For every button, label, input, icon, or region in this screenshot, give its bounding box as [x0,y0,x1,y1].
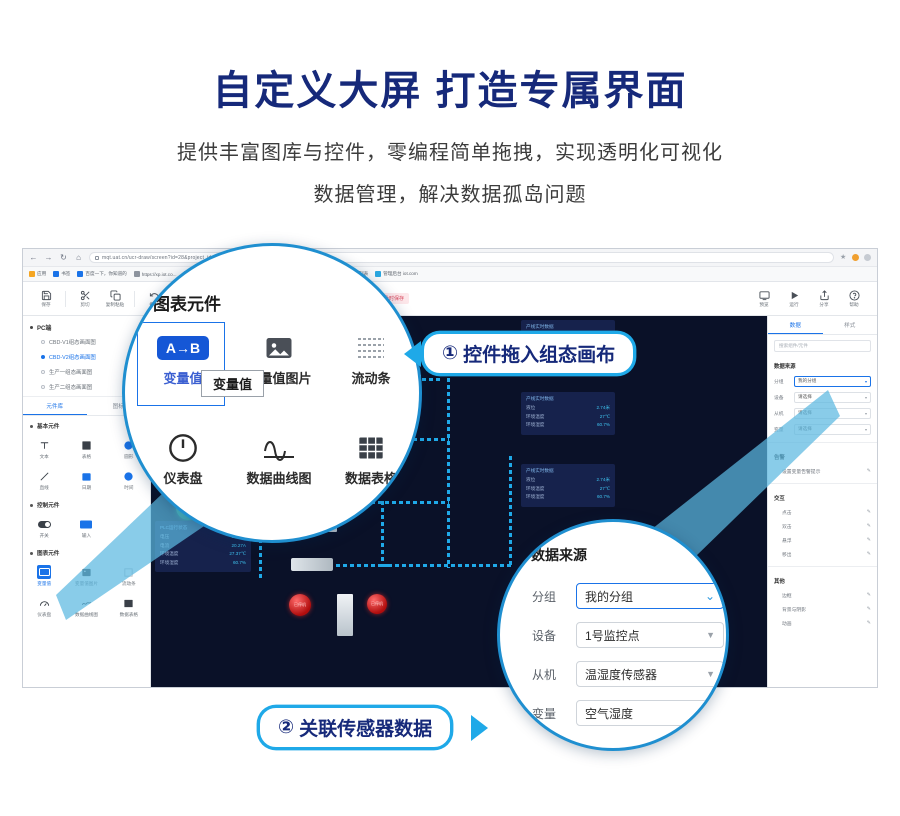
pipe-segment [381,564,511,567]
chevron-down-icon: ▾ [865,379,867,384]
panel-row: 环境温度27.37℃ [160,551,246,557]
tab-style[interactable]: 样式 [823,316,878,334]
radio-icon [41,370,45,374]
right-sidebar: 数据 样式 搜索组件/元件 数据来源 分组 我的分组▾ 设备 请选择▾ 从机 请… [767,316,877,688]
section-control-title: 控制元件 [23,495,150,512]
browser-actions: ★ [840,254,871,261]
tree-group-pc[interactable]: PC端 [23,320,150,335]
share-icon [818,289,830,301]
bullet-icon [30,552,33,555]
magnifier-right-title: 数据来源 [531,545,587,565]
field-label: 设备 [532,627,562,644]
mag-component-datatable[interactable]: 数据表格 [325,428,417,487]
mag-field-device: 设备 1号监控点▼ [532,622,724,648]
chevron-down-icon: ⌄ [705,589,715,603]
bookmark-item[interactable]: 百度一下，你知道的 [77,271,126,277]
radio-icon [41,340,45,344]
interaction-row[interactable]: 点击✎ [768,505,877,519]
magnifier-left-title: 图表元件 [153,290,221,315]
magnifier-left: 图表元件 A→B 变量值 变量值图片 流动条 仪表盘 [122,243,422,543]
chevron-down-icon: ▼ [706,669,715,679]
edit-pencil-icon: ✎ [867,468,871,474]
chevron-down-icon: ▾ [865,411,867,416]
callout-2-number: ② [278,716,294,739]
toolbar-help-label: 帮助 [849,302,858,308]
edit-pencil-icon: ✎ [867,620,871,626]
lock-icon [95,256,99,260]
ab-badge-icon: A→B [137,328,229,368]
section-interaction-title: 交互 [768,489,877,505]
edit-pencil-icon: ✎ [867,606,871,612]
input-icon [79,517,93,531]
datatable-icon [122,596,136,610]
property-tabs: 数据 样式 [768,316,877,335]
avatar[interactable] [852,254,859,261]
help-icon [848,289,860,301]
variable-select[interactable]: 空气湿度▼ [576,700,724,726]
pipe-segment [381,501,384,566]
component-date[interactable]: 日期 [65,464,107,495]
toolbar-preview-label: 预览 [759,302,768,308]
chevron-down-icon [30,326,33,329]
interaction-row[interactable]: 双击✎ [768,519,877,533]
component-table[interactable]: 表格 [65,433,107,464]
bookmark-star-icon[interactable]: ★ [840,254,847,261]
field-label: 设备 [774,394,790,401]
mag-component-gauge[interactable]: 仪表盘 [137,428,229,487]
edit-pencil-icon: ✎ [867,537,871,543]
panel-header: 产线实时数据 [526,468,610,474]
toolbar-divider [134,291,135,307]
toolbar-preview-button[interactable]: 预览 [749,289,779,308]
radio-icon [41,385,45,389]
field-label: 分组 [532,588,562,605]
cylinder[interactable] [337,594,353,636]
callout-2: ② 关联传感器数据 [258,706,452,749]
chevron-down-icon: ▾ [865,395,867,400]
callout-1-number: ① [442,342,458,365]
variable-value-icon [37,565,51,579]
menu-icon[interactable] [864,254,871,261]
bookmark-item[interactable]: 书签 [53,271,70,277]
tree-group-label: PC端 [37,323,51,332]
radio-icon [41,355,45,359]
component-text[interactable]: 文本 [23,433,65,464]
field-label: 分组 [774,378,790,385]
group-select[interactable]: 我的分组▾ [794,376,871,387]
component-variable-value[interactable]: 变量值 [23,560,65,591]
group-select[interactable]: 我的分组⌄ [576,583,724,609]
back-icon[interactable]: ← [29,253,38,262]
component-input[interactable]: 输入 [65,512,107,543]
divider [768,566,877,567]
panel-row: 环境湿度60.7% [160,560,246,566]
field-label: 变量 [532,705,562,722]
pipe-segment [509,456,512,566]
panel-row: 液位2.74米 [526,477,610,483]
toolbar-run-button[interactable]: 运行 [779,289,809,308]
component-datatable[interactable]: 数据表格 [108,591,150,622]
bookmark-item[interactable]: 应用 [29,271,46,277]
edit-pencil-icon: ✎ [867,592,871,598]
page-title: 自定义大屏 打造专属界面 [0,58,900,116]
section-data-source-title: 数据来源 [768,357,877,373]
toolbar-cut-button[interactable]: 剪切 [70,289,100,308]
callout-2-text: 关联传感器数据 [299,714,432,741]
bullet-icon [30,425,33,428]
panel-header: 产线实时数据 [526,396,610,402]
chevron-down-icon: ▾ [865,427,867,432]
toolbar-run-label: 运行 [789,302,798,308]
tab-component-library[interactable]: 元件库 [23,397,87,415]
toolbar-cut-label: 剪切 [80,302,89,308]
component-switch[interactable]: 开关 [23,512,65,543]
search-input[interactable]: 搜索组件/元件 [774,340,871,352]
toolbar-share-button[interactable]: 分享 [809,289,839,308]
field-group: 分组 我的分组▾ [768,373,877,389]
pipe-segment [447,378,450,568]
component-line[interactable]: 直线 [23,464,65,495]
curve-icon [233,428,325,468]
page-root: 自定义大屏 打造专属界面 提供丰富图库与控件，零编程简单拖拽，实现透明化可视化 … [0,0,900,816]
status-lamp-red[interactable]: 已停机 [367,594,387,614]
page-subtitle-line2: 数据管理，解决数据孤岛问题 [0,178,900,207]
callout-1-arrow-icon [404,341,421,367]
mag-field-slave: 从机 温湿度传感器▼ [532,661,724,687]
panel-row: 液位2.74米 [526,405,610,411]
divider [768,483,877,484]
field-label: 从机 [532,666,562,683]
mag-field-variable: 变量 空气湿度▼ [532,700,724,726]
device-select[interactable]: 1号监控点▼ [576,622,724,648]
toolbar-save-button[interactable]: 保存 [31,289,61,308]
bookmark-item[interactable]: https://xp.iot.co... [134,271,177,277]
other-row[interactable]: 边框✎ [768,588,877,602]
tab-data[interactable]: 数据 [768,316,823,334]
calendar-icon [79,469,93,483]
panel-row: 环境温度27℃ [526,414,610,420]
toolbar-save-label: 保存 [41,302,50,308]
component-tooltip: 变量值 [201,370,264,397]
browser-nav-bar: ← → ↻ ⌂ mqt.uat.cn/ucr-draw/screen?id=28… [23,249,877,267]
edit-pencil-icon: ✎ [867,523,871,529]
panel-row: 环境温度27℃ [526,486,610,492]
page-subtitle-line1: 提供丰富图库与控件，零编程简单拖拽，实现透明化可视化 [0,136,900,165]
pump[interactable] [291,558,333,571]
panel-row: 环境湿度60.7% [526,494,610,500]
bullet-icon [30,504,33,507]
bookmarks-bar: 应用 书签 百度一下，你知道的 https://xp.iot.co... 新羽 … [23,267,877,282]
datatable-icon [325,428,417,468]
copy-icon [109,289,121,301]
chevron-down-icon: ▼ [706,630,715,640]
panel-header: 产线实时数据 [526,324,610,330]
chevron-down-icon: ▼ [706,708,715,718]
toolbar-help-button[interactable]: 帮助 [839,289,869,308]
save-icon [40,289,52,301]
status-lamp-red[interactable]: 已停机 [289,594,311,616]
home-icon[interactable]: ⌂ [74,253,83,262]
data-panel[interactable]: 产线实时数据 液位2.74米 环境温度27℃ 环境湿度60.7% [521,464,615,507]
edit-pencil-icon: ✎ [867,509,871,515]
data-panel[interactable]: 产线实时数据 液位2.74米 环境温度27℃ 环境湿度60.7% [521,392,615,435]
callout-1-text: 控件拖入组态画布 [463,340,615,367]
panel-row: 环境湿度60.7% [526,422,610,428]
switch-icon [37,517,51,531]
screen-icon [758,289,770,301]
bookmark-item[interactable]: 管理后台 iot.com [375,271,417,277]
table-icon [79,438,93,452]
edit-pencil-icon: ✎ [867,551,871,557]
browser-chrome: ← → ↻ ⌂ mqt.uat.cn/ucr-draw/screen?id=28… [23,249,877,282]
slave-select[interactable]: 温湿度传感器▼ [576,661,724,687]
cut-icon [79,289,91,301]
play-icon [788,289,800,301]
other-row[interactable]: 动画✎ [768,616,877,630]
callout-2-arrow-icon [471,715,488,741]
field-label: 从机 [774,410,790,417]
toolbar-copy-button[interactable]: 复制粘贴 [100,289,130,308]
section-other-title: 其他 [768,572,877,588]
mag-component-curve[interactable]: 数据曲线图 [233,428,325,487]
gauge-icon [137,428,229,468]
toolbar-divider [65,291,66,307]
reload-icon[interactable]: ↻ [59,253,68,262]
magnifier-right: 数据来源 分组 我的分组⌄ 设备 1号监控点▼ 从机 温湿度传感器▼ 变量 空气… [497,519,729,751]
interaction-row[interactable]: 移出✎ [768,547,877,561]
mag-field-group: 分组 我的分组⌄ [532,583,724,609]
image-icon [233,328,325,368]
interaction-row[interactable]: 悬浮✎ [768,533,877,547]
other-row[interactable]: 背景与阴影✎ [768,602,877,616]
toolbar-share-label: 分享 [819,302,828,308]
clock-icon [122,469,136,483]
text-icon [37,438,51,452]
forward-icon[interactable]: → [44,253,53,262]
toolbar-copy-label: 复制粘贴 [106,302,124,308]
gauge-icon [37,596,51,610]
callout-1: ① 控件拖入组态画布 [422,332,635,375]
line-icon [37,469,51,483]
